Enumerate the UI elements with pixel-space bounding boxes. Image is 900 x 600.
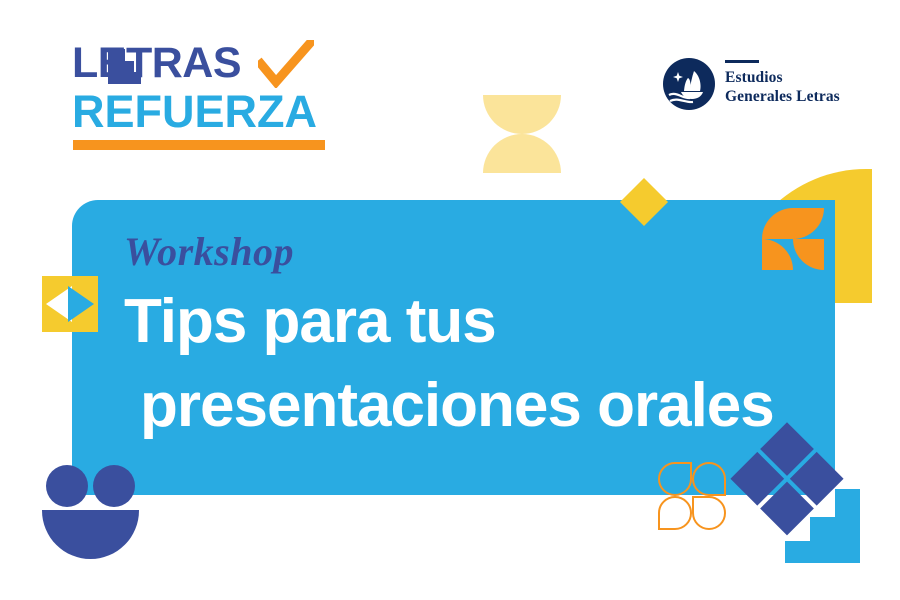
check-icon xyxy=(258,40,314,88)
institution-logo-rule xyxy=(725,60,759,63)
pinwheel-petal xyxy=(762,239,793,270)
hourglass-shape xyxy=(483,95,561,173)
main-content-card: Workshop Tips para tus presentaciones or… xyxy=(72,200,835,495)
yellow-square-diamond xyxy=(42,276,98,332)
institution-logo: Estudios Generales Letras xyxy=(663,58,853,116)
pinwheel-petal xyxy=(793,239,824,270)
stair-step xyxy=(785,541,860,563)
blue-staircase xyxy=(785,489,860,563)
people-silhouette xyxy=(42,465,147,565)
stair-step xyxy=(810,517,860,541)
institution-name-line-1: Estudios xyxy=(725,68,855,87)
pinwheel-outline-petal xyxy=(692,462,726,496)
pinwheel-petal xyxy=(762,208,793,239)
orange-pinwheel-solid xyxy=(762,208,824,270)
headline-line-1: Tips para tus xyxy=(124,287,496,356)
card-eyebrow-label: Workshop xyxy=(124,228,815,276)
people-body-bowl xyxy=(42,510,139,559)
caravel-ship-icon xyxy=(663,58,715,110)
pinwheel-petal xyxy=(793,208,824,239)
stair-step xyxy=(835,489,860,517)
brand-word-letras: LETRAS xyxy=(72,42,241,84)
orange-pinwheel-outline xyxy=(658,462,726,530)
hourglass-top-half xyxy=(483,95,561,134)
brand-logo-top-row: LETRAS xyxy=(72,46,342,88)
brand-underline-bar xyxy=(73,140,325,150)
institution-name-line-2: Generales Letras xyxy=(725,87,855,106)
pinwheel-outline-petal xyxy=(658,496,692,530)
card-headline: Tips para tus presentaciones orales xyxy=(124,280,815,448)
pinwheel-outline-petal xyxy=(692,496,726,530)
pinwheel-outline-petal xyxy=(658,462,692,496)
person-head-right xyxy=(93,465,135,507)
headline-line-2: presentaciones orales xyxy=(140,364,815,448)
poster-canvas: LETRAS REFUERZA Estudios G xyxy=(0,0,900,600)
brand-word-refuerza: REFUERZA xyxy=(72,86,317,138)
institution-logo-text: Estudios Generales Letras xyxy=(725,60,855,106)
person-head-left xyxy=(46,465,88,507)
card-text-block: Workshop Tips para tus presentaciones or… xyxy=(124,228,815,448)
hourglass-bottom-half xyxy=(483,134,561,173)
brand-logo: LETRAS REFUERZA xyxy=(72,46,342,156)
